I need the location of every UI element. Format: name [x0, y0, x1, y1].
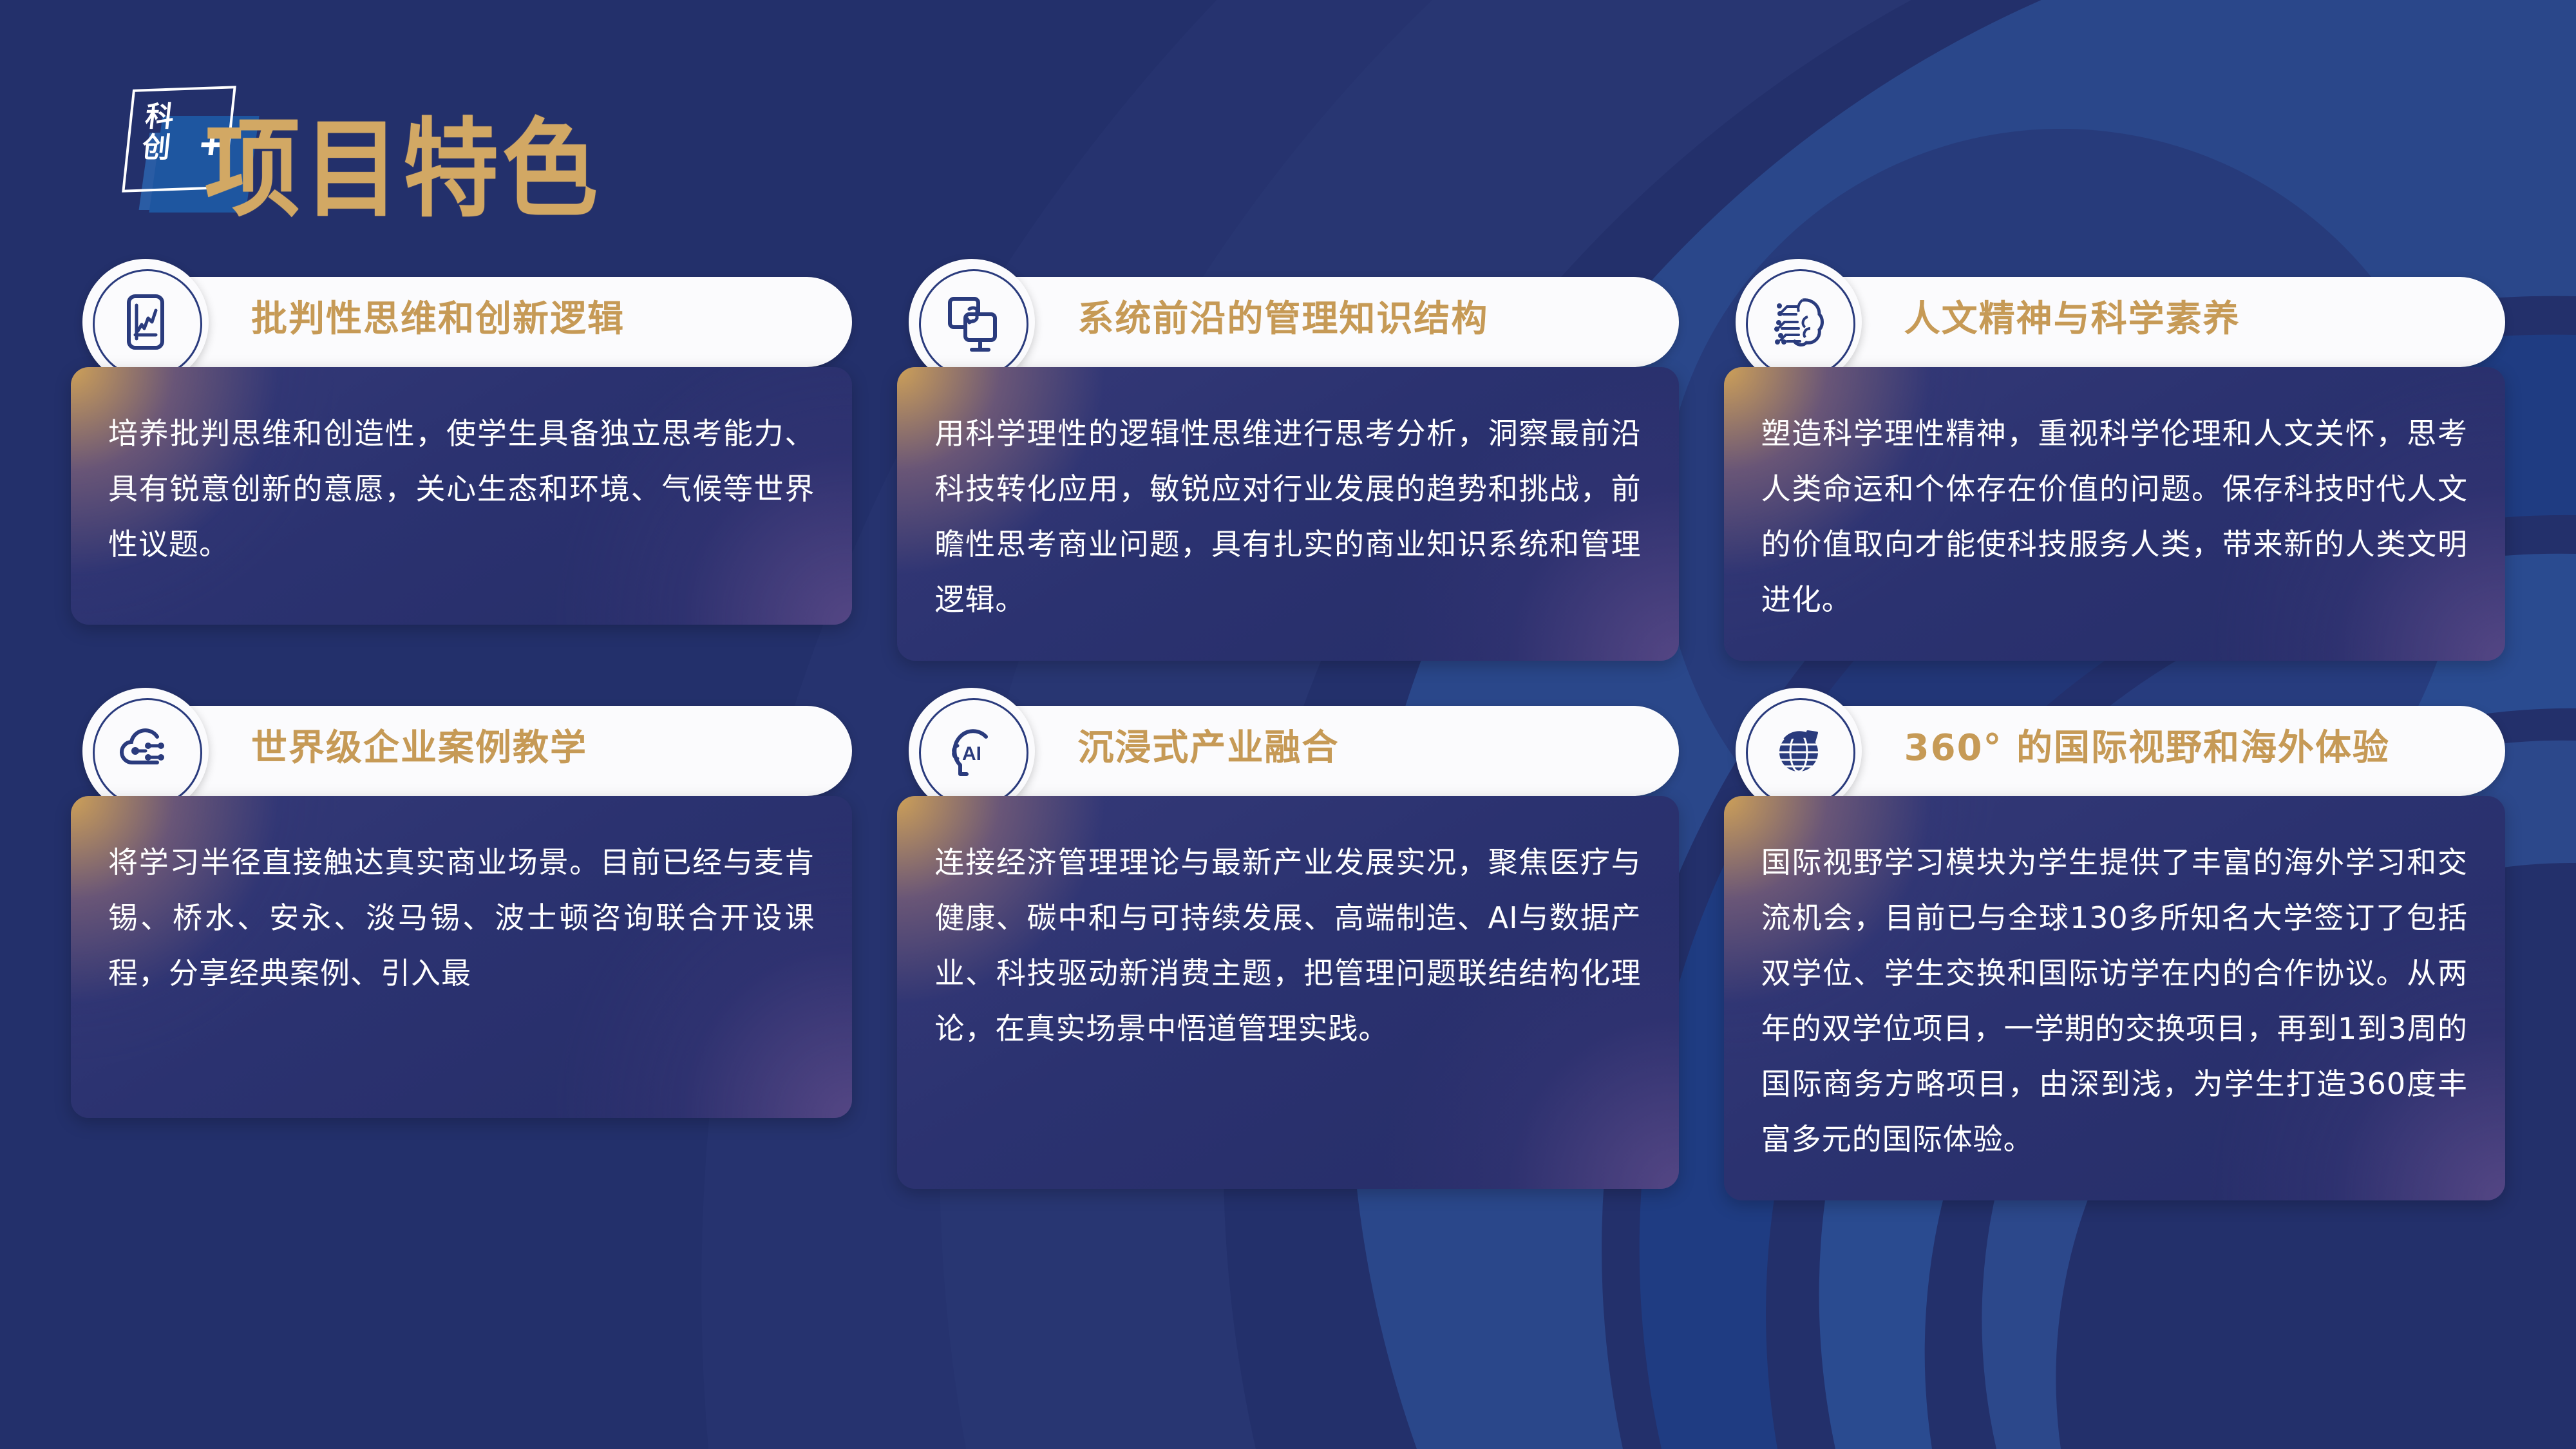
card-icon-badge — [909, 259, 1035, 385]
feature-card-critical-thinking[interactable]: 批判性思维和创新逻辑 培养批判思维和创造性，使学生具备独立思考能力、具有锐意创新… — [71, 270, 852, 661]
card-icon-badge — [1736, 259, 1862, 385]
card-body: 塑造科学理性精神，重视科学伦理和人文关怀，思考人类命运和个体存在价值的问题。保存… — [1724, 367, 2505, 661]
feature-card-global-vision[interactable]: 360° 的国际视野和海外体验 国际视野学习模块为学生提供了丰富的海外学习和交流… — [1724, 699, 2505, 1200]
card-title: 系统前沿的管理知识结构 — [1077, 270, 1488, 361]
card-body-text: 用科学理性的逻辑性思维进行思考分析，洞察最前沿科技转化应用，敏锐应对行业发展的趋… — [934, 406, 1641, 627]
card-header: 沉浸式产业融合 AI — [936, 699, 1678, 802]
card-body-text: 塑造科学理性精神，重视科学伦理和人文关怀，思考人类命运和个体存在价值的问题。保存… — [1761, 406, 2468, 627]
card-icon-badge — [82, 688, 209, 814]
card-icon-badge — [82, 259, 209, 385]
card-header: 系统前沿的管理知识结构 — [936, 270, 1678, 374]
card-body: 连接经济管理理论与最新产业发展实况，聚焦医疗与健康、碳中和与可持续发展、高端制造… — [897, 796, 1678, 1189]
feature-card-grid: 批判性思维和创新逻辑 培养批判思维和创造性，使学生具备独立思考能力、具有锐意创新… — [0, 270, 2576, 1200]
card-title: 世界级企业案例教学 — [251, 699, 587, 790]
card-body-text: 培养批判思维和创造性，使学生具备独立思考能力、具有锐意创新的意愿，关心生态和环境… — [108, 406, 815, 572]
card-title: 360° 的国际视野和海外体验 — [1904, 699, 2390, 790]
card-body: 将学习半径直接触达真实商业场景。目前已经与麦肯锡、桥水、安永、淡马锡、波士顿咨询… — [71, 796, 852, 1118]
page-title: 项目特色 — [205, 108, 601, 231]
globe-icon — [1765, 717, 1832, 784]
card-header: 世界级企业案例教学 — [109, 699, 852, 802]
card-title: 沉浸式产业融合 — [1077, 699, 1339, 790]
card-body-text: 国际视野学习模块为学生提供了丰富的海外学习和交流机会，目前已与全球130多所知名… — [1761, 835, 2468, 1167]
feature-card-world-class-cases[interactable]: 世界级企业案例教学 将学习半径直接触达真实商业场景。目前已经与麦肯锡、桥水、安永… — [71, 699, 852, 1200]
ai-brain-circuit-icon — [1765, 289, 1832, 355]
card-body: 培养批判思维和创造性，使学生具备独立思考能力、具有锐意创新的意愿，关心生态和环境… — [71, 367, 852, 625]
card-body-text: 将学习半径直接触达真实商业场景。目前已经与麦肯锡、桥水、安永、淡马锡、波士顿咨询… — [108, 835, 815, 1001]
cloud-network-icon — [112, 717, 179, 784]
ai-head-icon: AI — [938, 717, 1005, 784]
card-body: 国际视野学习模块为学生提供了丰富的海外学习和交流机会，目前已与全球130多所知名… — [1724, 796, 2505, 1200]
feature-card-immersive-industry[interactable]: 沉浸式产业融合 AI 连接经济管理理论与最新产业发展实况，聚焦医疗与健康、碳中和… — [897, 699, 1678, 1200]
card-icon-badge: AI — [909, 688, 1035, 814]
feature-card-humanities-science[interactable]: 人文精神与科学素养 — [1724, 270, 2505, 661]
line-chart-screen-icon — [112, 289, 179, 355]
card-header: 360° 的国际视野和海外体验 — [1763, 699, 2505, 802]
card-body: 用科学理性的逻辑性思维进行思考分析，洞察最前沿科技转化应用，敏锐应对行业发展的趋… — [897, 367, 1678, 661]
card-header: 批判性思维和创新逻辑 — [109, 270, 852, 374]
svg-text:AI: AI — [962, 743, 981, 764]
card-header: 人文精神与科学素养 — [1763, 270, 2505, 374]
card-body-text: 连接经济管理理论与最新产业发展实况，聚焦医疗与健康、碳中和与可持续发展、高端制造… — [934, 835, 1641, 1056]
card-title: 人文精神与科学素养 — [1904, 270, 2240, 361]
card-icon-badge — [1736, 688, 1862, 814]
monitor-sync-icon — [938, 289, 1005, 355]
feature-card-management-knowledge[interactable]: 系统前沿的管理知识结构 用科学理性的逻辑性思维进行思考分析，洞察最前沿科技转化应… — [897, 270, 1678, 661]
card-title: 批判性思维和创新逻辑 — [251, 270, 625, 361]
